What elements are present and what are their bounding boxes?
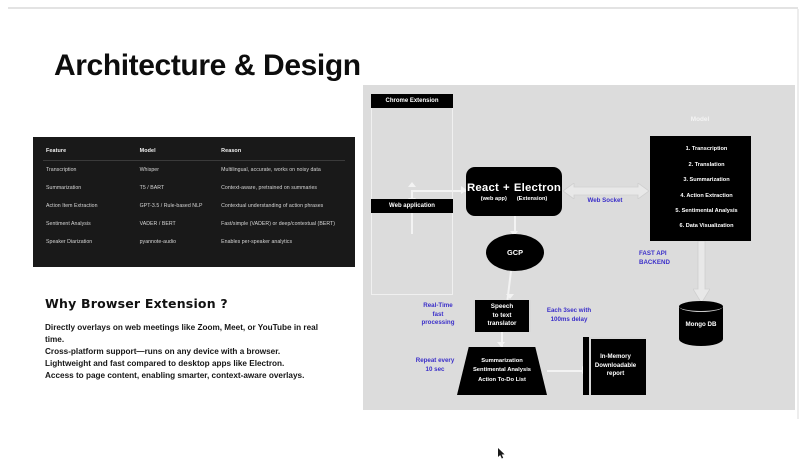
model-item: 4. Action Extraction [680, 189, 732, 204]
summarization-line: Sentimental Analysis [473, 366, 531, 375]
table-row: Speaker Diarization pyannote-audio Enabl… [43, 233, 345, 251]
report-line: Downloadable [595, 362, 636, 371]
cell-model: T5 / BART [137, 179, 219, 197]
cell-model: Whisper [137, 161, 219, 180]
speech-line: to text [493, 312, 512, 321]
report-line: In-Memory [600, 353, 631, 362]
cell-feature: Speaker Diarization [43, 233, 137, 251]
annotation-line: BACKEND [639, 259, 699, 268]
table-header-row: Feature Model Reason [43, 145, 345, 161]
annotation-fast-api-backend: FAST API BACKEND [639, 250, 699, 267]
annotation-line: Real-Time [411, 302, 465, 311]
table-row: Sentiment Analysis VADER / BERT Fast/sim… [43, 215, 345, 233]
electron-label: Electron [514, 182, 561, 194]
annotation-each-3sec-delay: Each 3sec with 100ms delay [535, 307, 603, 324]
annotation-line: processing [411, 319, 465, 328]
why-line: Directly overlays on web meetings like Z… [45, 322, 335, 346]
annotation-line: 10 sec [407, 366, 463, 375]
table-row: Transcription Whisper Multilingual, accu… [43, 161, 345, 180]
annotation-line: FAST API [639, 250, 699, 259]
speech-line: translator [487, 320, 516, 329]
model-item: 5. Sentimental Analysis [675, 204, 737, 219]
annotation-line: Repeat every [407, 357, 463, 366]
model-group-title: Model [650, 116, 750, 123]
model-item: 6. Data Visualization [680, 219, 734, 234]
cell-reason: Multilingual, accurate, works on noisy d… [218, 161, 345, 180]
mongo-db-node: Mongo DB [679, 301, 723, 350]
summarization-line: Summarization [481, 357, 523, 366]
spec-table-grid: Feature Model Reason Transcription Whisp… [43, 145, 345, 251]
slide-top-divider [8, 7, 798, 9]
column-header-reason: Reason [218, 145, 345, 161]
table-row: Summarization T5 / BART Context-aware, p… [43, 179, 345, 197]
in-memory-report-node: In-Memory Downloadable report [583, 337, 646, 395]
annotation-line: 100ms delay [535, 316, 603, 325]
speech-line: Speech [491, 303, 513, 312]
annotation-line: fast [411, 311, 465, 320]
column-header-model: Model [137, 145, 219, 161]
slide-right-divider [797, 9, 799, 419]
mouse-cursor-icon [498, 446, 506, 457]
why-browser-extension-list: Directly overlays on web meetings like Z… [45, 322, 335, 382]
cell-reason: Fast/simple (VADER) or deep/contextual (… [218, 215, 345, 233]
react-electron-subtitle: (web app)(Extension) [476, 196, 553, 202]
model-item: 3. Summarization [683, 173, 729, 188]
web-application-label: Web application [371, 199, 453, 213]
why-line: Lightweight and fast compared to desktop… [45, 358, 335, 370]
report-line: report [607, 370, 625, 379]
model-node: 1. Transcription 2. Translation 3. Summa… [650, 136, 751, 241]
annotation-repeat-interval: Repeat every 10 sec [407, 357, 463, 374]
table-row: Action Item Extraction GPT-3.5 / Rule-ba… [43, 197, 345, 215]
column-header-feature: Feature [43, 145, 137, 161]
architecture-diagram: Chrome Extension Web application React+E… [363, 85, 795, 410]
chrome-extension-group [371, 108, 453, 211]
cell-feature: Action Item Extraction [43, 197, 137, 215]
mongo-db-label: Mongo DB [679, 321, 723, 328]
why-browser-extension-heading: Why Browser Extension ? [45, 296, 228, 311]
cell-model: GPT-3.5 / Rule-based NLP [137, 197, 219, 215]
cell-model: pyannote-audio [137, 233, 219, 251]
database-cylinder-top-icon [679, 301, 723, 312]
cell-reason: Context-aware, pretrained on summaries [218, 179, 345, 197]
cell-reason: Contextual understanding of action phras… [218, 197, 345, 215]
react-electron-node: React+Electron (web app)(Extension) [466, 167, 562, 216]
gcp-node: GCP [486, 234, 544, 271]
react-electron-title: React+Electron [467, 182, 561, 194]
cell-feature: Summarization [43, 179, 137, 197]
page-title: Architecture & Design [54, 49, 361, 83]
chrome-extension-label: Chrome Extension [371, 94, 453, 108]
cell-reason: Enables per-speaker analytics [218, 233, 345, 251]
speech-to-text-node: Speech to text translator [473, 300, 531, 332]
cell-model: VADER / BERT [137, 215, 219, 233]
why-line: Access to page content, enabling smarter… [45, 370, 335, 382]
spec-table: Feature Model Reason Transcription Whisp… [33, 137, 355, 267]
why-line: Cross-platform support—runs on any devic… [45, 346, 335, 358]
react-sub-label: (web app) [476, 196, 512, 202]
arrowhead-to-summarization [497, 342, 505, 347]
model-item: 2. Translation [688, 158, 724, 173]
connector-summarization-to-report [547, 370, 587, 372]
summarization-node: Summarization Sentimental Analysis Actio… [457, 347, 547, 395]
summarization-line: Action To-Do List [478, 376, 526, 385]
annotation-line: Each 3sec with [535, 307, 603, 316]
annotation-real-time-processing: Real-Time fast processing [411, 302, 465, 328]
slide-canvas: Architecture & Design Feature Model Reas… [0, 0, 806, 457]
react-label: React [467, 182, 499, 194]
web-application-group [371, 213, 453, 295]
cell-feature: Transcription [43, 161, 137, 180]
cell-feature: Sentiment Analysis [43, 215, 137, 233]
arrowhead-to-speech-box [506, 294, 514, 299]
electron-sub-label: (Extension) [512, 196, 552, 202]
plus-symbol: + [499, 182, 514, 194]
annotation-web-socket: Web Socket [575, 197, 635, 206]
model-item: 1. Transcription [686, 142, 728, 157]
